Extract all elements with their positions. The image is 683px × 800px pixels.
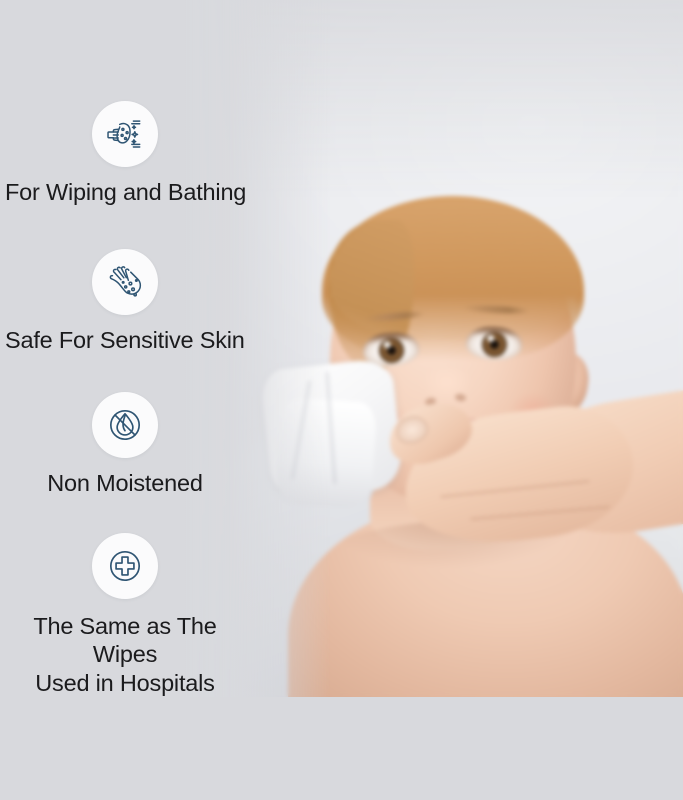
feature-list: For Wiping and Bathing (0, 0, 280, 800)
feature-label-hospital-wipes: The Same as The Wipes Used in Hospitals (0, 612, 250, 697)
hand-with-sponge-sparkle-icon (92, 101, 158, 167)
feature-label-non-moistened: Non Moistened (0, 469, 250, 497)
medical-cross-circle-icon (92, 533, 158, 599)
baby-eyelash-right (466, 326, 522, 338)
product-feature-infographic: For Wiping and Bathing (0, 0, 683, 800)
feature-label-wiping-bathing: For Wiping and Bathing (0, 178, 250, 206)
hand-with-sensitive-skin-dots-icon (92, 249, 158, 315)
feature-item-non-moistened: Non Moistened (0, 392, 250, 497)
feature-item-wiping-bathing: For Wiping and Bathing (0, 101, 250, 206)
feature-item-sensitive-skin: Safe For Sensitive Skin (0, 249, 250, 354)
feature-label-sensitive-skin: Safe For Sensitive Skin (0, 326, 250, 354)
feature-item-hospital-wipes: The Same as The Wipes Used in Hospitals (0, 533, 250, 697)
no-water-droplet-icon (92, 392, 158, 458)
